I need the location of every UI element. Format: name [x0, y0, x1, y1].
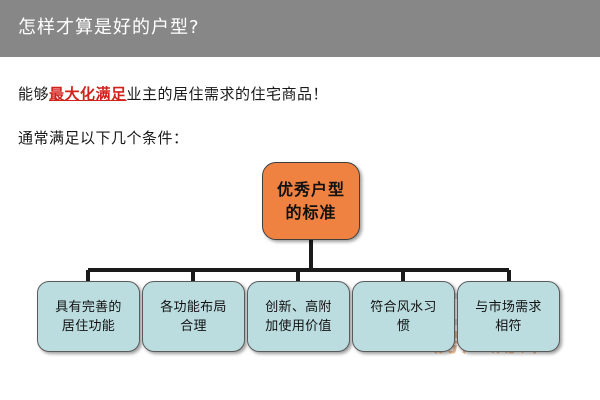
body-line-1-prefix: 能够: [18, 85, 49, 103]
body-line-1: 能够最大化满足业主的居住需求的住宅商品！: [18, 84, 328, 104]
leaf-node-4-line-1: 符合风水习: [370, 298, 437, 317]
root-node-line-2: 的标准: [285, 201, 336, 224]
leaf-node-4-line-2: 惯: [397, 317, 410, 336]
slide-title-band: 怎样才算是好的户型?: [0, 0, 600, 57]
diagram-leaf-node-5[interactable]: 与市场需求 相符: [457, 281, 560, 352]
diagram-leaf-node-2[interactable]: 各功能布局 合理: [142, 281, 245, 352]
leaf-node-1-line-2: 居住功能: [62, 317, 115, 336]
slide-canvas: 怎样才算是好的户型? 能够最大化满足业主的居住需求的住宅商品！ 通常满足以下几个…: [0, 0, 600, 400]
diagram-leaf-node-4[interactable]: 符合风水习 惯: [352, 281, 455, 352]
body-line-1-emphasis: 最大化满足: [49, 85, 127, 103]
diagram-root-node[interactable]: 优秀户型 的标准: [262, 162, 360, 240]
leaf-node-3-line-1: 创新、高附: [265, 298, 332, 317]
leaf-node-2-line-1: 各功能布局: [160, 298, 227, 317]
diagram-leaf-node-1[interactable]: 具有完善的 居住功能: [37, 281, 140, 352]
body-line-2: 通常满足以下几个条件：: [18, 128, 189, 148]
page-title: 怎样才算是好的户型?: [18, 17, 200, 39]
leaf-node-5-line-2: 相符: [495, 317, 522, 336]
body-line-1-suffix: 业主的居住需求的住宅商品！: [127, 85, 329, 103]
leaf-node-3-line-2: 加使用价值: [265, 317, 332, 336]
root-node-line-1: 优秀户型: [277, 178, 345, 201]
diagram-leaf-node-3[interactable]: 创新、高附 加使用价值: [247, 281, 350, 352]
leaf-node-1-line-1: 具有完善的: [55, 298, 122, 317]
leaf-node-5-line-1: 与市场需求: [475, 298, 542, 317]
leaf-node-2-line-2: 合理: [180, 317, 207, 336]
